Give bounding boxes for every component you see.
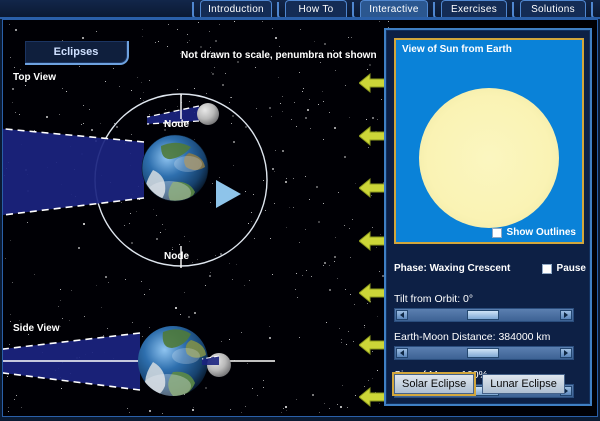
show-outlines-checkbox[interactable] — [492, 228, 502, 238]
tilt-from-orbit-slider[interactable] — [394, 308, 574, 322]
eclipse-simulator-window: Introduction How To Interactive Exercise… — [0, 0, 600, 421]
tilt-from-orbit-thumb[interactable] — [467, 310, 499, 320]
tab-how-to[interactable]: How To — [285, 0, 347, 17]
sun-disc — [419, 88, 559, 228]
caret-right-icon[interactable] — [560, 310, 572, 320]
module-tab-eclipses[interactable]: Eclipses — [25, 41, 129, 65]
pause-checkbox[interactable] — [542, 264, 552, 274]
solar-eclipse-button[interactable]: Solar Eclipse — [394, 374, 474, 394]
sunlight-arrow-left-icon — [359, 334, 387, 356]
sunlight-arrow-left-icon — [359, 386, 387, 408]
side-view-label: Side View — [13, 323, 60, 334]
sunlight-arrow-left-icon — [359, 125, 387, 147]
sunlight-arrow-left-icon — [359, 282, 387, 304]
pause-label: Pause — [557, 263, 586, 274]
show-outlines-label: Show Outlines — [507, 227, 576, 238]
sunlight-arrow-left-icon — [359, 72, 387, 94]
show-outlines-row[interactable]: Show Outlines — [492, 227, 576, 238]
phase-label: Phase: Waxing Crescent — [394, 263, 510, 274]
scale-disclaimer-note: Not drawn to scale, penumbra not shown — [181, 50, 377, 61]
top-tab-strip: Introduction How To Interactive Exercise… — [0, 0, 600, 19]
tilt-from-orbit-group: Tilt from Orbit: 0° — [394, 293, 586, 322]
caret-right-icon[interactable] — [560, 348, 572, 358]
tilt-from-orbit-label: Tilt from Orbit: 0° — [394, 293, 586, 305]
phase-row: Phase: Waxing Crescent Pause — [394, 263, 586, 274]
control-panel: View of Sun from Earth Show Outlines Pha… — [384, 28, 592, 406]
sunlight-arrow-left-icon — [359, 230, 387, 252]
sun-view-title: View of Sun from Earth — [402, 44, 512, 55]
node-label-upper: Node — [164, 119, 189, 130]
tab-introduction[interactable]: Introduction — [200, 0, 272, 17]
earth-moon-distance-thumb[interactable] — [467, 348, 499, 358]
pause-row[interactable]: Pause — [542, 263, 586, 274]
eclipse-mode-buttons: Solar Eclipse Lunar Eclipse — [394, 374, 565, 394]
caret-left-icon[interactable] — [396, 310, 408, 320]
node-label-lower: Node — [164, 251, 189, 262]
tab-exercises[interactable]: Exercises — [441, 0, 507, 17]
earth-moon-distance-slider[interactable] — [394, 346, 574, 360]
caret-left-icon[interactable] — [396, 348, 408, 358]
sunlight-arrow-left-icon — [359, 177, 387, 199]
earth-moon-distance-label: Earth-Moon Distance: 384000 km — [394, 331, 586, 343]
top-view-label: Top View — [13, 72, 56, 83]
lunar-eclipse-button[interactable]: Lunar Eclipse — [482, 374, 565, 394]
tab-interactive[interactable]: Interactive — [360, 0, 428, 17]
earth-moon-distance-group: Earth-Moon Distance: 384000 km — [394, 331, 586, 360]
sun-view-box: View of Sun from Earth Show Outlines — [394, 38, 584, 244]
tab-solutions[interactable]: Solutions — [520, 0, 586, 17]
